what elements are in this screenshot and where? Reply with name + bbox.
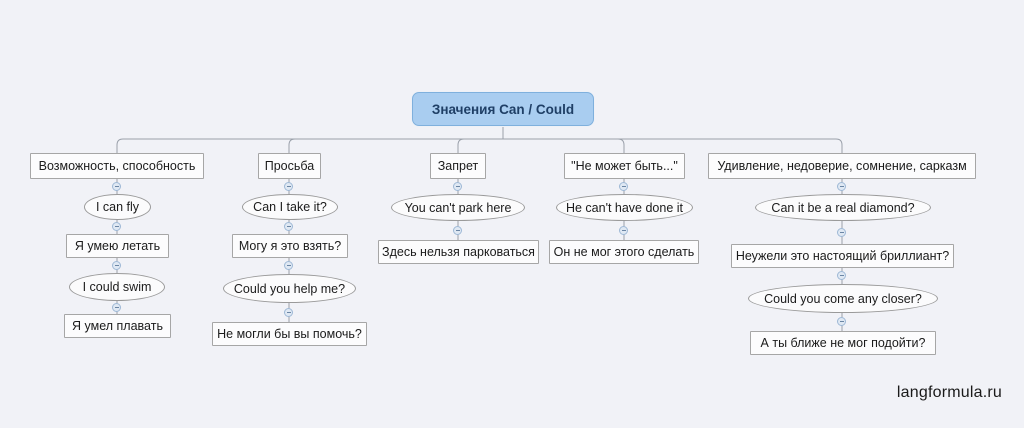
branch-prohibition-child-0-label: You can't park here: [405, 201, 512, 215]
branch-prohibition-label: Запрет: [438, 159, 479, 173]
branch-disbelief-collapse-handle-1[interactable]: [619, 226, 628, 235]
branch-request-collapse-handle-0[interactable]: [284, 182, 293, 191]
branch-request-child-1-label: Могу я это взять?: [239, 239, 341, 253]
branch-surprise-child-1-label: Неужели это настоящий бриллиант?: [736, 249, 949, 263]
branch-ability-child-0-label: I can fly: [96, 200, 139, 214]
branch-ability[interactable]: Возможность, способность: [30, 153, 204, 179]
branch-surprise-collapse-handle-0[interactable]: [837, 182, 846, 191]
branch-ability-child-0[interactable]: I can fly: [84, 194, 151, 220]
branch-surprise-child-3-label: А ты ближе не мог подойти?: [761, 336, 926, 350]
root-node[interactable]: Значения Can / Could: [412, 92, 594, 126]
branch-prohibition-child-1[interactable]: Здесь нельзя парковаться: [378, 240, 539, 264]
branch-ability-collapse-handle-1[interactable]: [112, 222, 121, 231]
branch-request-child-3-label: Не могли бы вы помочь?: [217, 327, 362, 341]
branch-disbelief-child-1-label: Он не мог этого сделать: [554, 245, 695, 259]
branch-request-child-0[interactable]: Can I take it?: [242, 194, 338, 220]
branch-ability-child-2[interactable]: I could swim: [69, 273, 165, 301]
branch-surprise-child-0[interactable]: Can it be a real diamond?: [755, 194, 931, 221]
branch-ability-collapse-handle-2[interactable]: [112, 261, 121, 270]
branch-disbelief-child-0[interactable]: He can't have done it: [556, 194, 693, 221]
branch-surprise[interactable]: Удивление, недоверие, сомнение, сарказм: [708, 153, 976, 179]
branch-prohibition-child-1-label: Здесь нельзя парковаться: [382, 245, 535, 259]
branch-surprise-child-2[interactable]: Could you come any closer?: [748, 284, 938, 313]
branch-request-child-2[interactable]: Could you help me?: [223, 274, 356, 303]
branch-disbelief-child-1[interactable]: Он не мог этого сделать: [549, 240, 699, 264]
branch-request-child-2-label: Could you help me?: [234, 282, 345, 296]
branch-request[interactable]: Просьба: [258, 153, 321, 179]
branch-request-collapse-handle-3[interactable]: [284, 308, 293, 317]
branch-surprise-child-3[interactable]: А ты ближе не мог подойти?: [750, 331, 936, 355]
branch-request-child-1[interactable]: Могу я это взять?: [232, 234, 348, 258]
branch-ability-collapse-handle-3[interactable]: [112, 303, 121, 312]
branch-surprise-child-0-label: Can it be a real diamond?: [771, 201, 914, 215]
mindmap-canvas: Значения Can / CouldВозможность, способн…: [0, 0, 1024, 428]
branch-request-collapse-handle-2[interactable]: [284, 261, 293, 270]
branch-disbelief-collapse-handle-0[interactable]: [619, 182, 628, 191]
branch-prohibition-child-0[interactable]: You can't park here: [391, 194, 525, 221]
branch-prohibition-collapse-handle-1[interactable]: [453, 226, 462, 235]
branch-prohibition-collapse-handle-0[interactable]: [453, 182, 462, 191]
branch-disbelief[interactable]: "Не может быть...": [564, 153, 685, 179]
branch-request-child-0-label: Can I take it?: [253, 200, 327, 214]
branch-disbelief-child-0-label: He can't have done it: [566, 201, 683, 215]
watermark: langformula.ru: [897, 384, 1002, 402]
branch-request-label: Просьба: [265, 159, 314, 173]
branch-surprise-child-2-label: Could you come any closer?: [764, 292, 922, 306]
branch-ability-child-1[interactable]: Я умею летать: [66, 234, 169, 258]
branch-request-collapse-handle-1[interactable]: [284, 222, 293, 231]
branch-ability-collapse-handle-0[interactable]: [112, 182, 121, 191]
branch-surprise-collapse-handle-2[interactable]: [837, 271, 846, 280]
branch-prohibition[interactable]: Запрет: [430, 153, 486, 179]
branch-disbelief-label: "Не может быть...": [571, 159, 678, 173]
branch-ability-child-3-label: Я умел плавать: [72, 319, 163, 333]
branch-ability-child-1-label: Я умею летать: [75, 239, 160, 253]
branch-ability-label: Возможность, способность: [39, 159, 196, 173]
branch-ability-child-2-label: I could swim: [83, 280, 152, 294]
branch-surprise-child-1[interactable]: Неужели это настоящий бриллиант?: [731, 244, 954, 268]
root-node-label: Значения Can / Could: [432, 102, 574, 117]
branch-request-child-3[interactable]: Не могли бы вы помочь?: [212, 322, 367, 346]
branch-surprise-label: Удивление, недоверие, сомнение, сарказм: [717, 159, 966, 173]
branch-surprise-collapse-handle-1[interactable]: [837, 228, 846, 237]
branch-surprise-collapse-handle-3[interactable]: [837, 317, 846, 326]
branch-ability-child-3[interactable]: Я умел плавать: [64, 314, 171, 338]
